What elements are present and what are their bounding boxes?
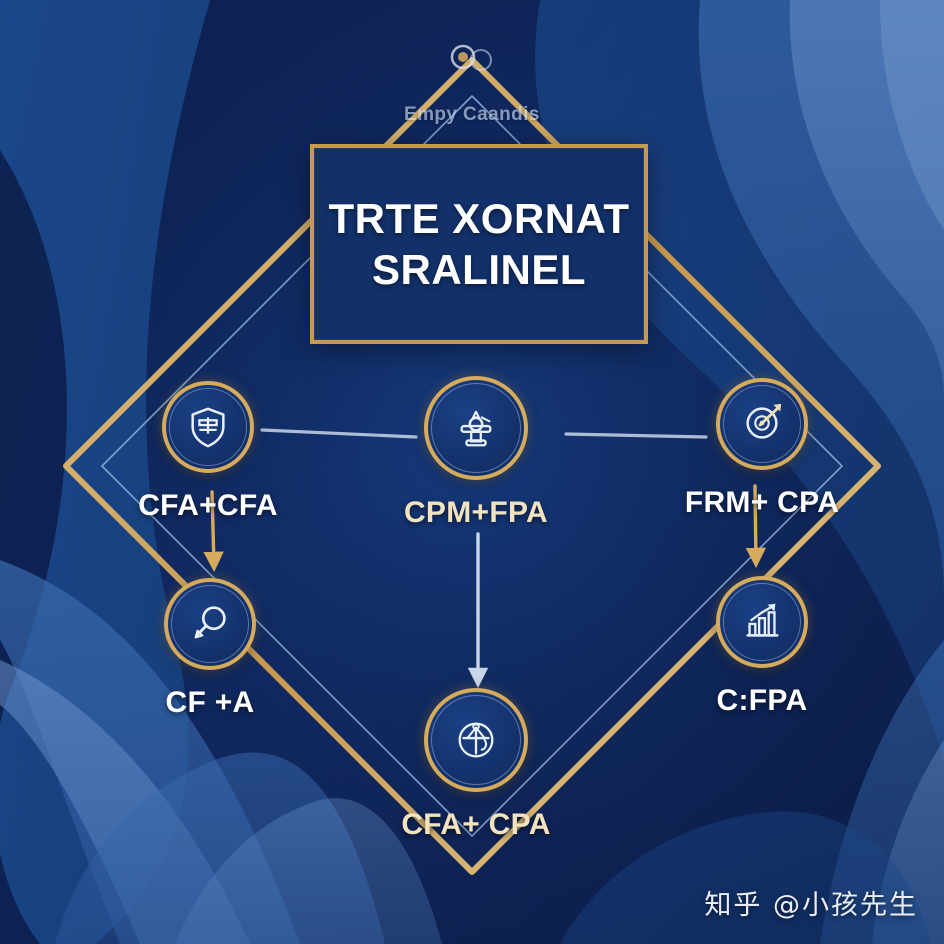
node-left-top-label: CFA+CFA — [108, 489, 308, 523]
node-center-top-label: CPM+FPA — [376, 496, 576, 530]
node-right-bottom-label: C:FPA — [662, 684, 862, 718]
watermark: 知乎 @小孩先生 — [704, 883, 918, 922]
shield-badge-icon — [185, 404, 231, 450]
node-left-bottom-ring — [164, 578, 256, 670]
target-arrow-icon — [739, 401, 785, 447]
node-right-top-label: FRM+ CPA — [662, 486, 862, 520]
scales-balance-icon — [453, 717, 499, 763]
node-right-bottom-ring — [716, 576, 808, 668]
podium-award-icon — [453, 405, 499, 451]
node-left-bottom-label: CF +A — [110, 686, 310, 720]
node-center-top[interactable]: CPM+FPA — [376, 376, 576, 530]
caption-text: Empy Caandis — [404, 104, 644, 126]
infographic-canvas: Empy Caandis TRTE XORNAT SRALINEL CFA+CF… — [0, 0, 944, 944]
title-line-2: SRALINEL — [372, 247, 586, 292]
node-right-bottom[interactable]: C:FPA — [662, 576, 862, 718]
node-right-top-ring — [716, 378, 808, 470]
node-left-bottom[interactable]: CF +A — [110, 578, 310, 720]
node-left-top-ring — [162, 381, 254, 473]
node-center-top-ring — [424, 376, 528, 480]
node-right-top[interactable]: FRM+ CPA — [662, 378, 862, 520]
node-left-top[interactable]: CFA+CFA — [108, 381, 308, 523]
node-bottom-ring — [424, 688, 528, 792]
node-bottom[interactable]: CFA+ CPA — [376, 688, 576, 842]
title-line-1: TRTE XORNAT — [328, 196, 629, 241]
bar-chart-up-icon — [739, 599, 785, 645]
title-plate: TRTE XORNAT SRALINEL — [310, 144, 648, 344]
magnifier-icon — [187, 601, 233, 647]
node-bottom-label: CFA+ CPA — [376, 808, 576, 842]
